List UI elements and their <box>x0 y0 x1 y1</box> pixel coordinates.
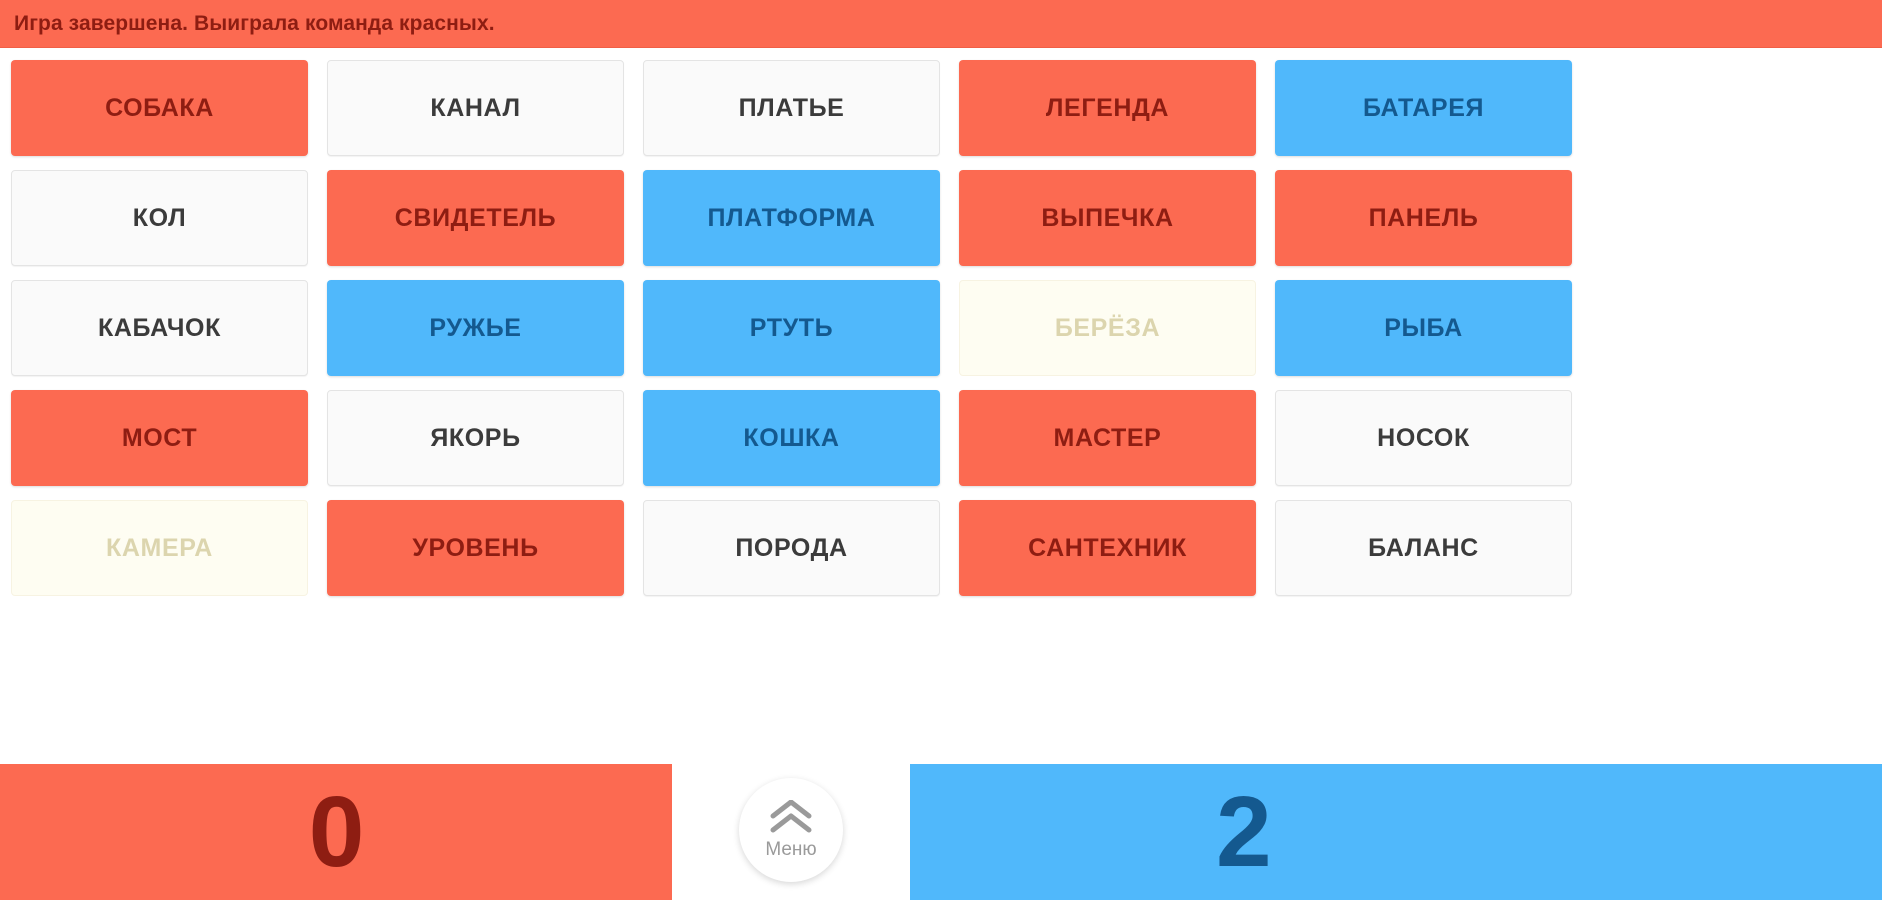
word-card[interactable]: ПЛАТФОРМА <box>643 170 940 266</box>
word-card[interactable]: СВИДЕТЕЛЬ <box>327 170 624 266</box>
word-card[interactable]: ЛЕГЕНДА <box>959 60 1256 156</box>
word-card[interactable]: ПОРОДА <box>643 500 940 596</box>
word-card[interactable]: КАМЕРА <box>11 500 308 596</box>
blue-team-score: 2 <box>1216 782 1271 882</box>
scoreboard: 0 Меню 2 <box>0 764 1882 900</box>
word-card[interactable]: ПЛАТЬЕ <box>643 60 940 156</box>
word-card[interactable]: УРОВЕНЬ <box>327 500 624 596</box>
double-chevron-up-icon <box>768 800 814 834</box>
word-card-row: СОБАКАКАНАЛПЛАТЬЕЛЕГЕНДАБАТАРЕЯ <box>11 60 1882 170</box>
word-card[interactable]: САНТЕХНИК <box>959 500 1256 596</box>
word-card-grid: СОБАКАКАНАЛПЛАТЬЕЛЕГЕНДАБАТАРЕЯКОЛСВИДЕТ… <box>0 48 1882 764</box>
menu-button[interactable]: Меню <box>739 778 843 882</box>
word-card[interactable]: КОШКА <box>643 390 940 486</box>
word-card[interactable]: РУЖЬЕ <box>327 280 624 376</box>
game-screen: Игра завершена. Выиграла команда красных… <box>0 0 1882 900</box>
word-card-row: КОЛСВИДЕТЕЛЬПЛАТФОРМАВЫПЕЧКАПАНЕЛЬ <box>11 170 1882 280</box>
word-card[interactable]: МАСТЕР <box>959 390 1256 486</box>
word-card[interactable]: КАНАЛ <box>327 60 624 156</box>
word-card-row: МОСТЯКОРЬКОШКАМАСТЕРНОСОК <box>11 390 1882 500</box>
menu-button-label: Меню <box>765 839 816 861</box>
word-card[interactable]: ПАНЕЛЬ <box>1275 170 1572 266</box>
word-card[interactable]: РЫБА <box>1275 280 1572 376</box>
word-card[interactable]: ЯКОРЬ <box>327 390 624 486</box>
game-result-banner: Игра завершена. Выиграла команда красных… <box>0 0 1882 48</box>
word-card[interactable]: БАЛАНС <box>1275 500 1572 596</box>
word-card[interactable]: КАБАЧОК <box>11 280 308 376</box>
blue-team-score-panel: 2 <box>910 764 1882 900</box>
red-team-score: 0 <box>309 782 364 882</box>
word-card[interactable]: СОБАКА <box>11 60 308 156</box>
word-card[interactable]: РТУТЬ <box>643 280 940 376</box>
word-card[interactable]: КОЛ <box>11 170 308 266</box>
word-card-row: КАМЕРАУРОВЕНЬПОРОДАСАНТЕХНИКБАЛАНС <box>11 500 1882 610</box>
menu-area: Меню <box>672 764 910 900</box>
red-team-score-panel: 0 <box>0 764 672 900</box>
word-card[interactable]: МОСТ <box>11 390 308 486</box>
game-result-text: Игра завершена. Выиграла команда красных… <box>14 12 495 36</box>
word-card[interactable]: ВЫПЕЧКА <box>959 170 1256 266</box>
word-card[interactable]: БЕРЁЗА <box>959 280 1256 376</box>
word-card[interactable]: НОСОК <box>1275 390 1572 486</box>
word-card-row: КАБАЧОКРУЖЬЕРТУТЬБЕРЁЗАРЫБА <box>11 280 1882 390</box>
word-card[interactable]: БАТАРЕЯ <box>1275 60 1572 156</box>
